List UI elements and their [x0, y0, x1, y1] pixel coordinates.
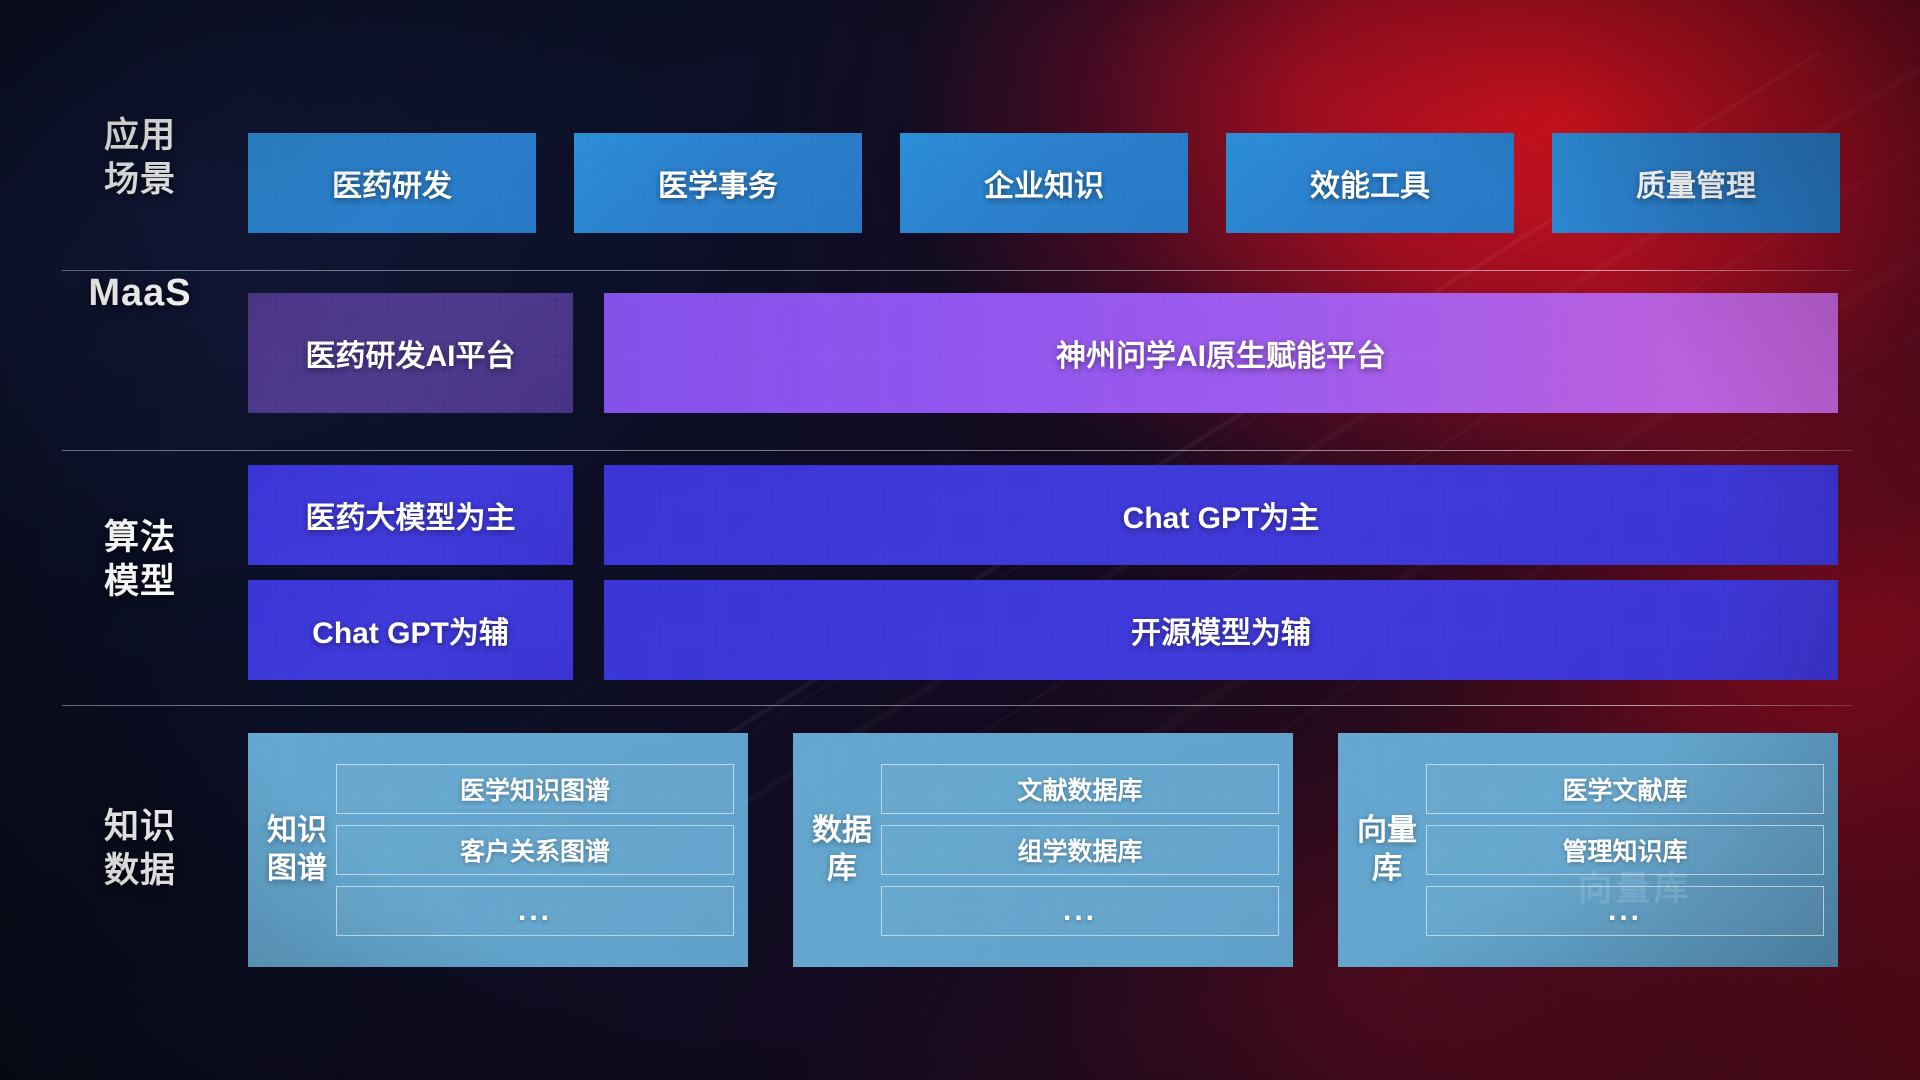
knowledge-group-2-item-2[interactable]: 组学数据库 [881, 825, 1279, 875]
knowledge-group-3-item-3[interactable]: ... [1426, 886, 1824, 936]
knowledge-group-1-item-3[interactable]: ... [336, 886, 734, 936]
algo-left-box-1-label: 医药大模型为主 [306, 493, 516, 537]
knowledge-group-2-item-1[interactable]: 文献数据库 [881, 764, 1279, 814]
knowledge-group-2-title: 数据 库 [803, 812, 881, 888]
divider-after-application [62, 270, 1852, 271]
row-label-application-scenario: 应用 场景 [75, 114, 205, 202]
maas-main-box[interactable]: 神州问学AI原生赋能平台 [604, 293, 1838, 413]
streak-4 [802, 0, 1920, 845]
divider-after-algorithm [62, 705, 1852, 706]
app-box-3[interactable]: 企业知识 [900, 133, 1188, 233]
algo-left-box-2[interactable]: Chat GPT为辅 [248, 580, 573, 680]
knowledge-group-2-items: 文献数据库 组学数据库 ... [881, 764, 1279, 936]
algo-right-box-2-label: 开源模型为辅 [1131, 608, 1311, 652]
app-box-2-label: 医学事务 [658, 161, 778, 205]
algo-left-box-1[interactable]: 医药大模型为主 [248, 465, 573, 565]
maas-main-box-label: 神州问学AI原生赋能平台 [1056, 331, 1386, 375]
knowledge-group-3[interactable]: 向量 库 医学文献库 管理知识库 ... 向量库 [1338, 733, 1838, 967]
app-box-5-label: 质量管理 [1636, 161, 1756, 205]
algo-right-box-1[interactable]: Chat GPT为主 [604, 465, 1838, 565]
knowledge-group-1-item-2[interactable]: 客户关系图谱 [336, 825, 734, 875]
slide-canvas: 应用 场景 医药研发 医学事务 企业知识 效能工具 质量管理 MaaS 医药研发… [0, 0, 1920, 1080]
algo-left-box-2-label: Chat GPT为辅 [312, 608, 509, 652]
app-box-1[interactable]: 医药研发 [248, 133, 536, 233]
divider-after-maas [62, 450, 1852, 451]
maas-left-box[interactable]: 医药研发AI平台 [248, 293, 573, 413]
knowledge-group-1-title: 知识 图谱 [258, 812, 336, 888]
algo-right-box-1-label: Chat GPT为主 [1123, 493, 1320, 537]
row-label-algorithm-model: 算法 模型 [75, 516, 205, 604]
app-box-1-label: 医药研发 [332, 161, 452, 205]
app-box-5[interactable]: 质量管理 [1552, 133, 1840, 233]
knowledge-group-1[interactable]: 知识 图谱 医学知识图谱 客户关系图谱 ... [248, 733, 748, 967]
knowledge-group-2[interactable]: 数据 库 文献数据库 组学数据库 ... [793, 733, 1293, 967]
app-box-4[interactable]: 效能工具 [1226, 133, 1514, 233]
app-box-3-label: 企业知识 [984, 161, 1104, 205]
knowledge-group-1-items: 医学知识图谱 客户关系图谱 ... [336, 764, 734, 936]
algo-right-box-2[interactable]: 开源模型为辅 [604, 580, 1838, 680]
maas-left-box-label: 医药研发AI平台 [306, 331, 516, 375]
knowledge-group-1-item-1[interactable]: 医学知识图谱 [336, 764, 734, 814]
knowledge-group-2-item-3[interactable]: ... [881, 886, 1279, 936]
knowledge-group-3-item-1[interactable]: 医学文献库 [1426, 764, 1824, 814]
row-label-maas: MaaS [75, 271, 205, 315]
app-box-4-label: 效能工具 [1310, 161, 1430, 205]
knowledge-group-3-items: 医学文献库 管理知识库 ... [1426, 764, 1824, 936]
knowledge-group-3-item-2[interactable]: 管理知识库 [1426, 825, 1824, 875]
row-label-knowledge-data: 知识 数据 [75, 805, 205, 893]
app-box-2[interactable]: 医学事务 [574, 133, 862, 233]
knowledge-group-3-title: 向量 库 [1348, 812, 1426, 888]
